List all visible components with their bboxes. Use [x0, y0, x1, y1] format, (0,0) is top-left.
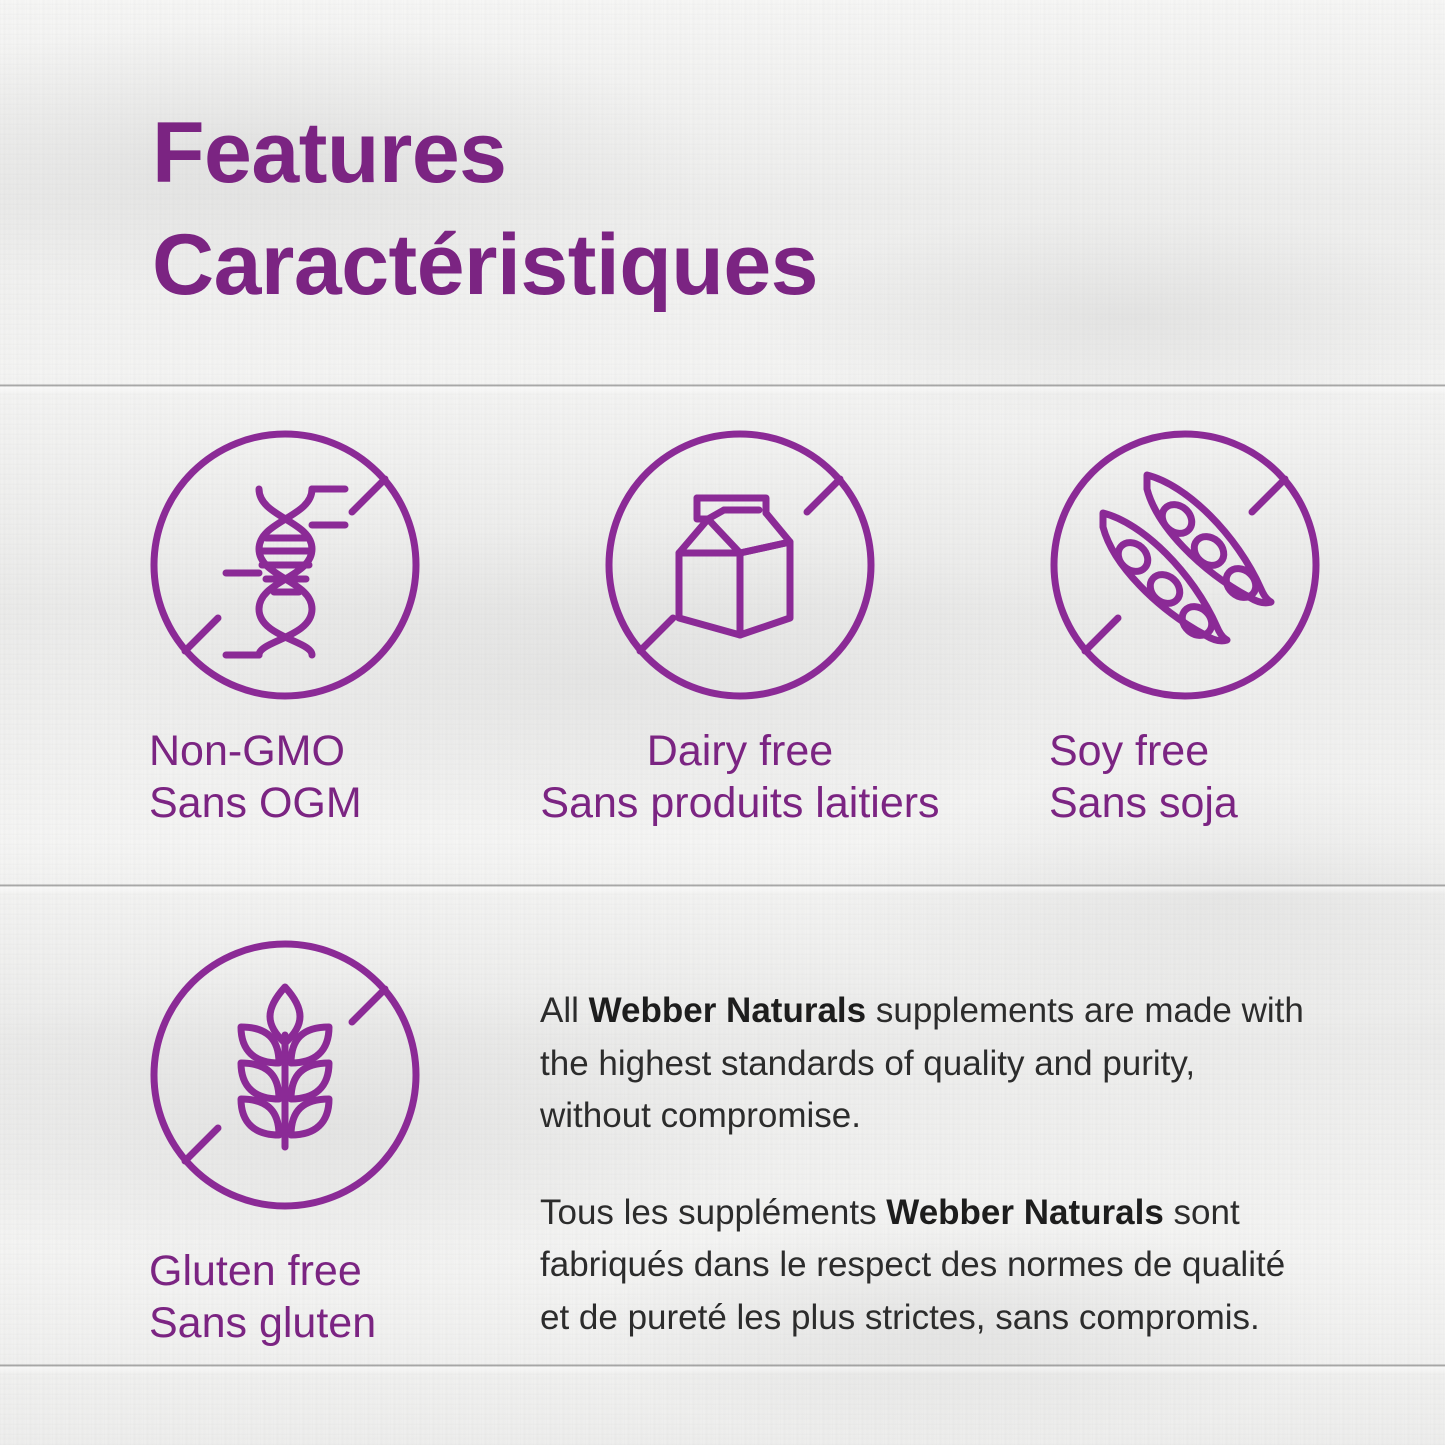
plank-seam-2 — [0, 884, 1445, 887]
feature-label-en: Dairy free — [647, 727, 833, 775]
no-gluten-wheat-icon — [149, 939, 421, 1211]
feature-label-en: Soy free — [1049, 727, 1209, 775]
title-english: Features — [152, 98, 1302, 210]
plank-seam-1 — [0, 384, 1445, 387]
page-title: Features Caractéristiques — [152, 98, 1302, 322]
feature-label-fr: Sans produits laitiers — [524, 777, 956, 829]
feature-label-en: Non-GMO — [149, 727, 345, 775]
brand-copy-french: Tous les suppléments Webber Naturals son… — [540, 1187, 1315, 1345]
feature-label-soy-free: Soy free Sans soja — [1049, 725, 1321, 830]
feature-infographic: Features Caractéristiques — [0, 0, 1445, 1445]
feature-label-fr: Sans gluten — [149, 1297, 421, 1349]
copy-fr-before: Tous les suppléments — [540, 1193, 886, 1232]
feature-label-en: Gluten free — [149, 1247, 362, 1295]
feature-soy-free: Soy free Sans soja — [1049, 429, 1321, 830]
title-french: Caractéristiques — [152, 210, 1302, 322]
copy-fr-brand: Webber Naturals — [886, 1193, 1164, 1232]
feature-label-fr: Sans OGM — [149, 777, 421, 829]
feature-label-dairy-free: Dairy free Sans produits laitiers — [524, 725, 956, 830]
feature-gluten-free: Gluten free Sans gluten — [149, 939, 421, 1350]
no-soy-pea-pod-icon — [1049, 429, 1321, 701]
brand-copy-english: All Webber Naturals supplements are made… — [540, 985, 1315, 1143]
copy-en-before: All — [540, 991, 589, 1030]
no-dairy-milk-carton-icon — [604, 429, 876, 701]
feature-label-non-gmo: Non-GMO Sans OGM — [149, 725, 421, 830]
feature-label-fr: Sans soja — [1049, 777, 1321, 829]
feature-non-gmo: Non-GMO Sans OGM — [149, 429, 421, 830]
no-gmo-dna-icon — [149, 429, 421, 701]
feature-dairy-free: Dairy free Sans produits laitiers — [604, 429, 956, 830]
feature-label-gluten-free: Gluten free Sans gluten — [149, 1245, 421, 1350]
copy-en-brand: Webber Naturals — [589, 991, 867, 1030]
brand-copy: All Webber Naturals supplements are made… — [540, 985, 1315, 1344]
plank-seam-3 — [0, 1364, 1445, 1367]
